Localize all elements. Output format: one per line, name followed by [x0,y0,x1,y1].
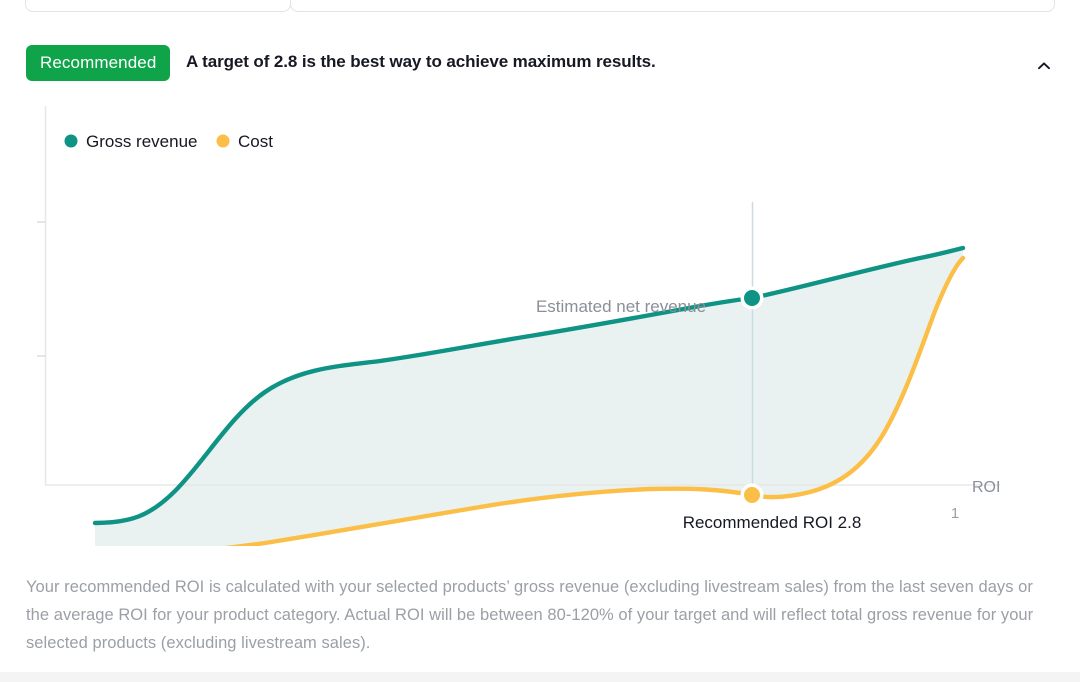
top-right-input[interactable] [290,0,1055,12]
legend-label-gross-revenue: Gross revenue [86,132,198,151]
recommended-badge: Recommended [26,45,170,81]
legend-label-cost: Cost [238,132,273,151]
recommendation-headline: A target of 2.8 is the best way to achie… [186,52,656,72]
gross-revenue-marker[interactable] [741,287,764,310]
x-axis-tick-label-1: 1 [951,505,959,522]
top-left-input[interactable] [25,0,291,12]
footnote-text: Your recommended ROI is calculated with … [26,573,1048,657]
top-input-row [0,0,1080,12]
legend-swatch-gross-revenue [65,135,78,148]
chart-legend: Gross revenue Cost [65,132,274,151]
cost-marker[interactable] [741,484,764,507]
roi-chart: Gross revenue Cost Estimated net revenue… [0,96,1080,546]
chevron-up-icon[interactable] [1028,50,1060,82]
x-axis-label: ROI [972,479,1000,496]
estimated-net-revenue-label: Estimated net revenue [536,297,706,316]
page-bottom-divider [0,672,1080,682]
recommendation-banner: Recommended A target of 2.8 is the best … [0,20,1080,68]
legend-swatch-cost [217,135,230,148]
recommended-roi-annotation: Recommended ROI 2.8 [683,513,862,532]
